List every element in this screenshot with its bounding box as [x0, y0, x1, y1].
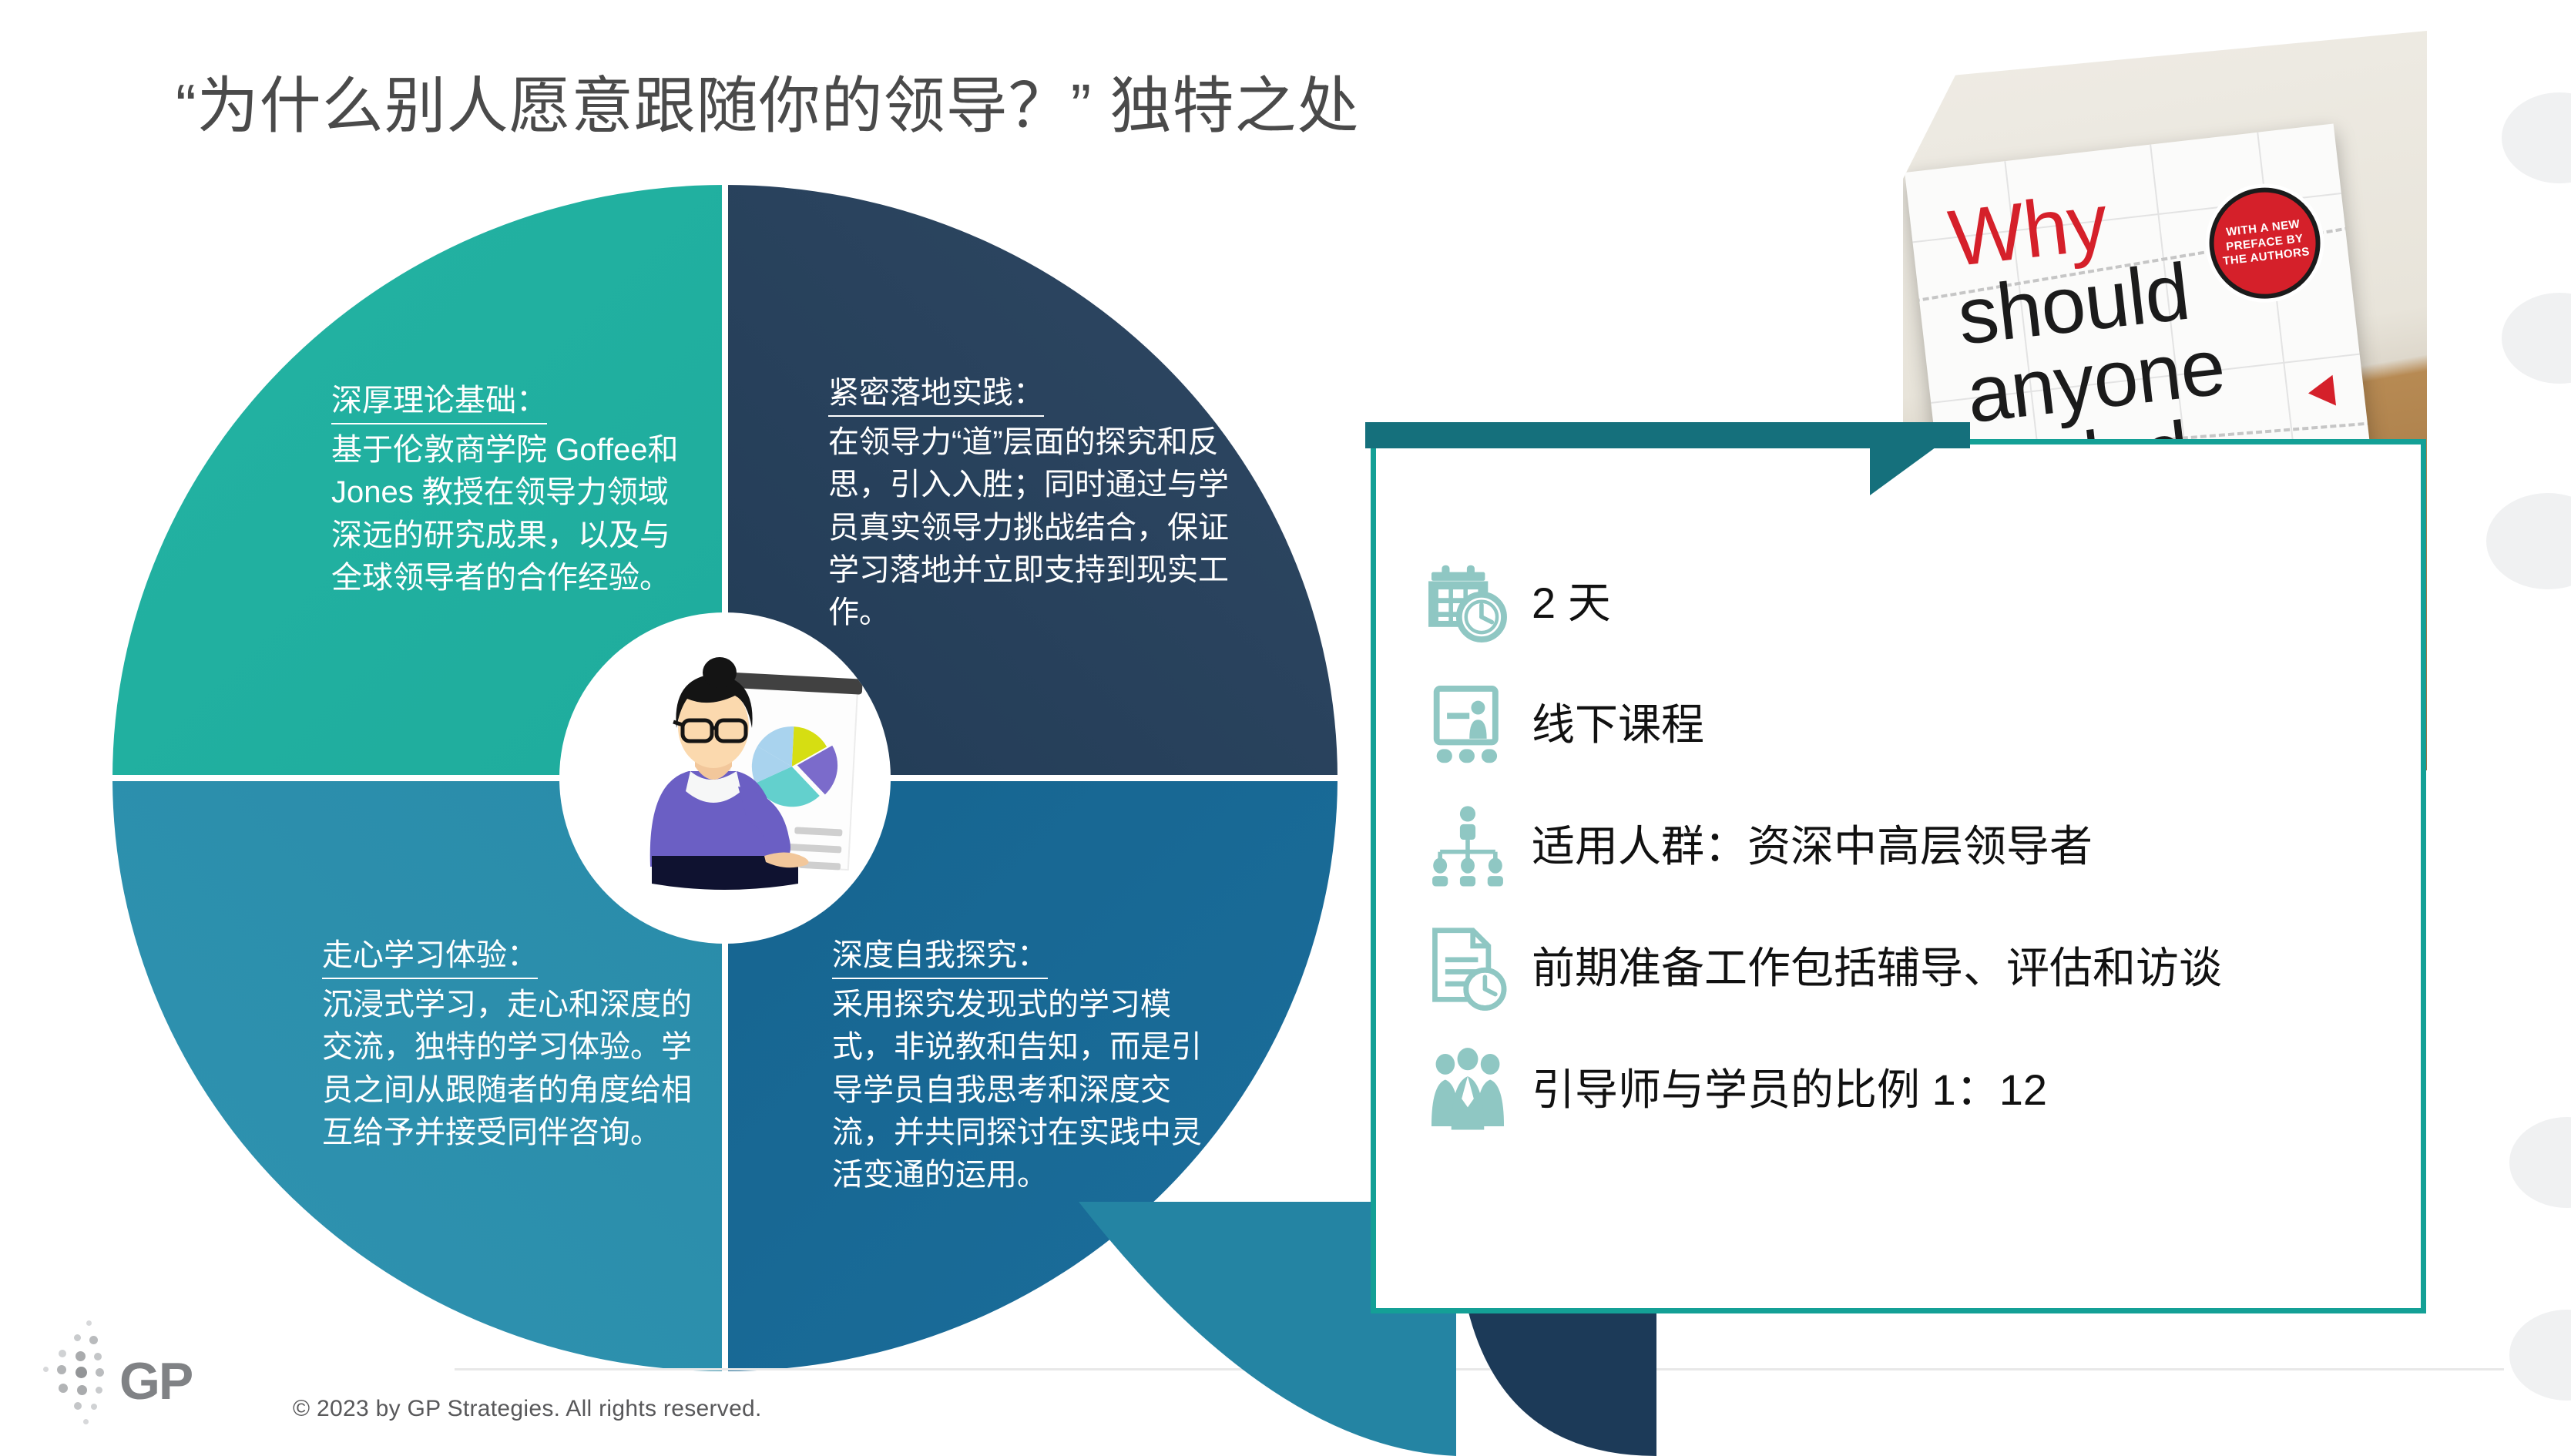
info-panel-ribbon-pointer: [1870, 422, 1970, 495]
list-item[interactable]: 适用人群：资深中高层领导者: [1418, 802, 2435, 891]
book-badge-label: WITH A NEW PREFACE BY THE AUTHORS: [2212, 216, 2318, 270]
org-chart-people-icon: [1418, 803, 1518, 890]
book-badge: WITH A NEW PREFACE BY THE AUTHORS: [2203, 182, 2326, 304]
info-item-label: 适用人群：资深中高层领导者: [1532, 820, 2093, 872]
document-clock-icon: [1418, 925, 1518, 1011]
info-item-label: 前期准备工作包括辅导、评估和访谈: [1532, 942, 2222, 994]
quadrant-heading: 深度自我探究：: [832, 936, 1048, 979]
page-title: “为什么别人愿意跟随你的领导？” 独特之处: [176, 71, 1794, 142]
wheel-hub: [559, 612, 891, 944]
list-item[interactable]: 引导师与学员的比例 1：12: [1418, 1045, 2435, 1135]
gp-logo: GP: [39, 1319, 223, 1434]
book-arrow-icon: [2307, 375, 2336, 409]
list-item[interactable]: 前期准备工作包括辅导、评估和访谈: [1418, 924, 2435, 1013]
info-item-label: 引导师与学员的比例 1：12: [1532, 1064, 2047, 1115]
quadrant-heading: 深厚理论基础：: [331, 381, 547, 424]
quadrant-heading: 走心学习体验：: [322, 936, 538, 979]
copyright-text: © 2023 by GP Strategies. All rights rese…: [293, 1396, 762, 1422]
list-item[interactable]: 线下课程: [1418, 680, 2435, 770]
info-panel-ribbon: [1365, 422, 1897, 448]
quadrant-text-bottom-left: 走心学习体验： 沉浸式学习，走心和深度的交流，独特的学习体验。学员之间从跟随者的…: [322, 936, 692, 1154]
quadrant-body: 基于伦敦商学院 Goffee和 Jones 教授在领导力领域深远的研究成果，以及…: [331, 429, 693, 599]
quadrant-body: 采用探究发现式的学习模式，非说教和告知，而是引导学员自我思考和深度交流，并共同探…: [832, 984, 1217, 1196]
quadrant-text-bottom-right: 深度自我探究： 采用探究发现式的学习模式，非说教和告知，而是引导学员自我思考和深…: [832, 936, 1217, 1196]
info-list: 2 天 线下课程: [1418, 559, 2435, 1167]
presenter-flipchart-illustration: [559, 612, 891, 944]
list-item[interactable]: 2 天: [1418, 559, 2435, 648]
quadrant-body: 在领导力“道”层面的探究和反思，引入入胜；同时通过与学员真实领导力挑战结合，保证…: [828, 421, 1229, 634]
quadrant-body: 沉浸式学习，走心和深度的交流，独特的学习体验。学员之间从跟随者的角度给相互给予并…: [322, 984, 692, 1154]
classroom-training-icon: [1418, 682, 1518, 768]
group-people-icon: [1418, 1047, 1518, 1133]
quadrant-text-top-left: 深厚理论基础： 基于伦敦商学院 Goffee和 Jones 教授在领导力领域深远…: [331, 381, 693, 599]
gp-logo-text: GP: [119, 1351, 192, 1411]
quadrant-heading: 紧密落地实践：: [828, 374, 1044, 417]
calendar-clock-icon: [1418, 560, 1518, 646]
info-item-label: 2 天: [1532, 577, 1611, 629]
quadrant-text-top-right: 紧密落地实践： 在领导力“道”层面的探究和反思，引入入胜；同时通过与学员真实领导…: [828, 374, 1229, 634]
info-item-label: 线下课程: [1532, 699, 1704, 750]
